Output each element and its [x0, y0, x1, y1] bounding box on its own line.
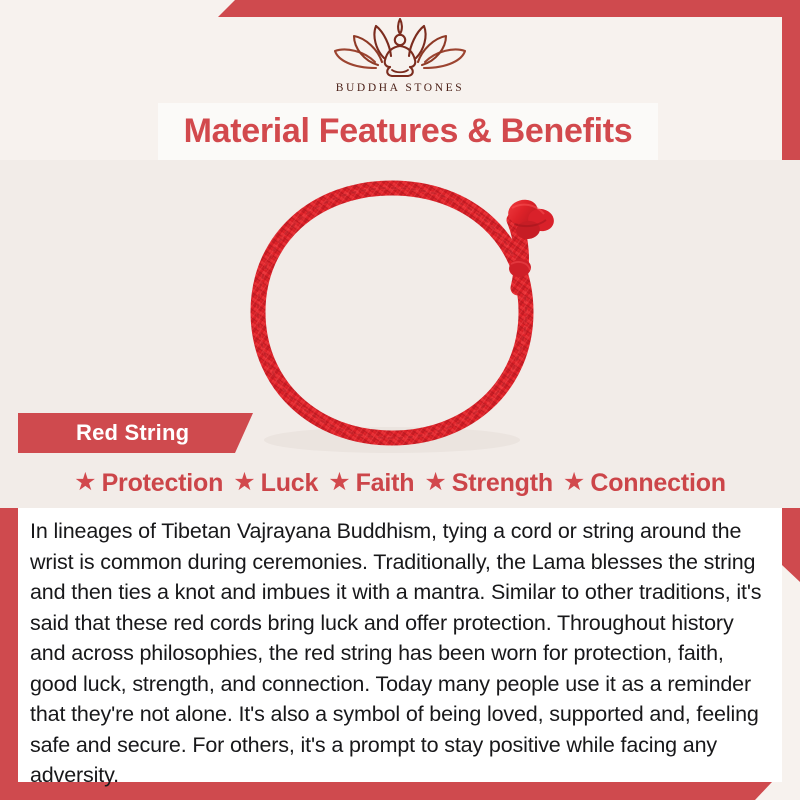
frame-bar-top	[218, 0, 800, 17]
benefit-label: Connection	[590, 469, 726, 498]
star-icon: ★	[424, 470, 446, 495]
red-string-bracelet-image	[196, 172, 596, 472]
description-panel: In lineages of Tibetan Vajrayana Buddhis…	[18, 508, 782, 782]
infographic-page: BUDDHA STONES Material Features & Benefi…	[0, 0, 800, 800]
brand-logo: BUDDHA STONES	[0, 18, 800, 102]
benefit-item-protection: ★ Protection	[70, 469, 227, 498]
benefits-list: ★ Protection ★ Luck ★ Faith ★ Strength ★…	[18, 464, 782, 502]
product-photo	[0, 160, 800, 508]
benefit-item-luck: ★ Luck	[229, 469, 322, 498]
benefit-item-faith: ★ Faith	[324, 469, 418, 498]
page-title: Material Features & Benefits	[184, 112, 633, 151]
star-icon: ★	[74, 470, 96, 495]
benefit-label: Luck	[261, 469, 319, 498]
red-string-ribbon: Red String	[18, 413, 253, 453]
ribbon-label: Red String	[18, 420, 189, 446]
benefit-label: Faith	[356, 469, 415, 498]
lotus-meditation-figure-icon	[326, 18, 474, 80]
benefit-item-connection: ★ Connection	[559, 469, 730, 498]
star-icon: ★	[233, 470, 255, 495]
benefit-label: Strength	[452, 469, 553, 498]
benefit-item-strength: ★ Strength	[420, 469, 557, 498]
title-panel: Material Features & Benefits	[158, 103, 658, 160]
brand-wordmark: BUDDHA STONES	[336, 82, 464, 94]
star-icon: ★	[563, 470, 585, 495]
description-paragraph: In lineages of Tibetan Vajrayana Buddhis…	[30, 516, 768, 791]
star-icon: ★	[328, 470, 350, 495]
benefit-label: Protection	[102, 469, 224, 498]
